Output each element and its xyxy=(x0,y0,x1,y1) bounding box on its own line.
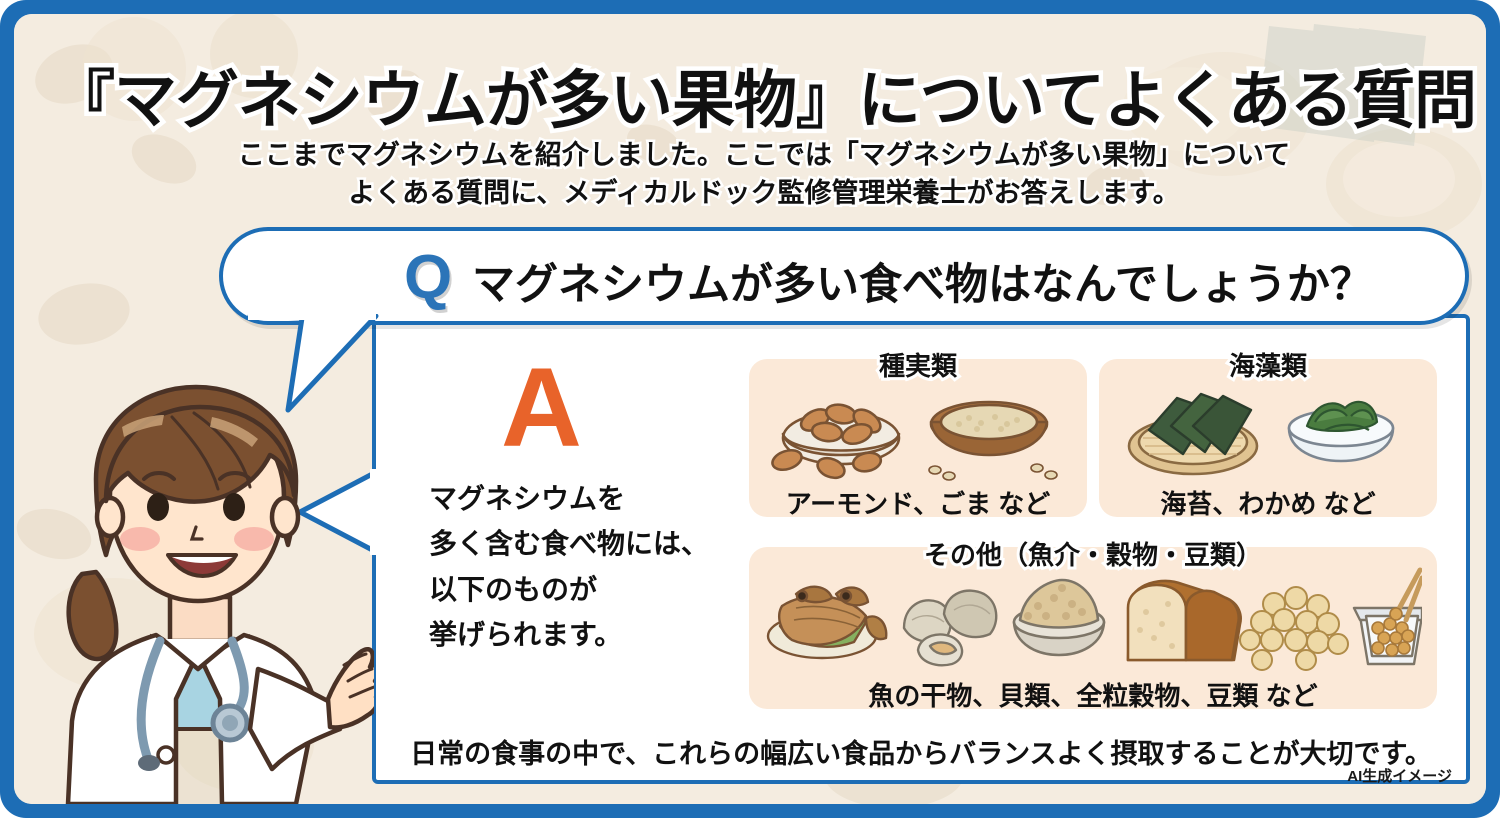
question-text: マグネシウムが多い食べ物はなんでしょうか？ xyxy=(472,250,1373,312)
card-other-caption: 魚の干物、貝類、全粒穀物、豆類 など xyxy=(749,676,1437,713)
page-title: 『マグネシウムが多い果物』についてよくある質問 xyxy=(14,50,1486,141)
answer-lead-line-2: 多く含む食べ物には、 xyxy=(429,521,709,566)
ai-credit-label: AI生成イメージ xyxy=(1347,765,1452,786)
subtitle-line-1: ここまでマグネシウムを紹介しました。ここでは「マグネシウムが多い果物」について xyxy=(14,136,1486,174)
card-seeds-illustrations xyxy=(769,376,1069,484)
female-doctor-illustration xyxy=(44,369,374,804)
card-seeds-caption: アーモンド、ごま など xyxy=(749,484,1087,521)
card-seaweed-title: 海藻類 xyxy=(1099,346,1437,383)
card-seaweed-caption: 海苔、わかめ など xyxy=(1099,484,1437,521)
answer-footer-note: 日常の食事の中で、これらの幅広い食品からバランスよく摂取することが大切です。 xyxy=(372,732,1470,771)
subtitle-line-2: よくある質問に、メディカルドック監修管理栄養士がお答えします。 xyxy=(14,174,1486,212)
answer-lead-text: マグネシウムを 多く含む食べ物には、 以下のものが 挙げられます。 xyxy=(429,476,709,657)
page-subtitle: ここまでマグネシウムを紹介しました。ここでは「マグネシウムが多い果物」について … xyxy=(14,136,1486,213)
card-seeds-title: 種実類 xyxy=(749,346,1087,383)
question-bubble-tail xyxy=(244,314,384,414)
question-marker: Q xyxy=(404,242,452,313)
answer-lead-line-1: マグネシウムを xyxy=(429,476,709,521)
answer-marker: A xyxy=(501,352,582,464)
card-other-illustrations xyxy=(762,564,1422,676)
answer-lead-line-4: 挙げられます。 xyxy=(429,612,709,657)
answer-lead-line-3: 以下のものが xyxy=(429,567,709,612)
card-other-title: その他（魚介・穀物・豆類） xyxy=(749,535,1437,572)
card-seaweed-illustrations xyxy=(1119,376,1419,484)
infographic-canvas: 『マグネシウムが多い果物』についてよくある質問 ここまでマグネシウムを紹介しまし… xyxy=(14,14,1486,804)
infographic-root: 『マグネシウムが多い果物』についてよくある質問 ここまでマグネシウムを紹介しまし… xyxy=(0,0,1500,818)
